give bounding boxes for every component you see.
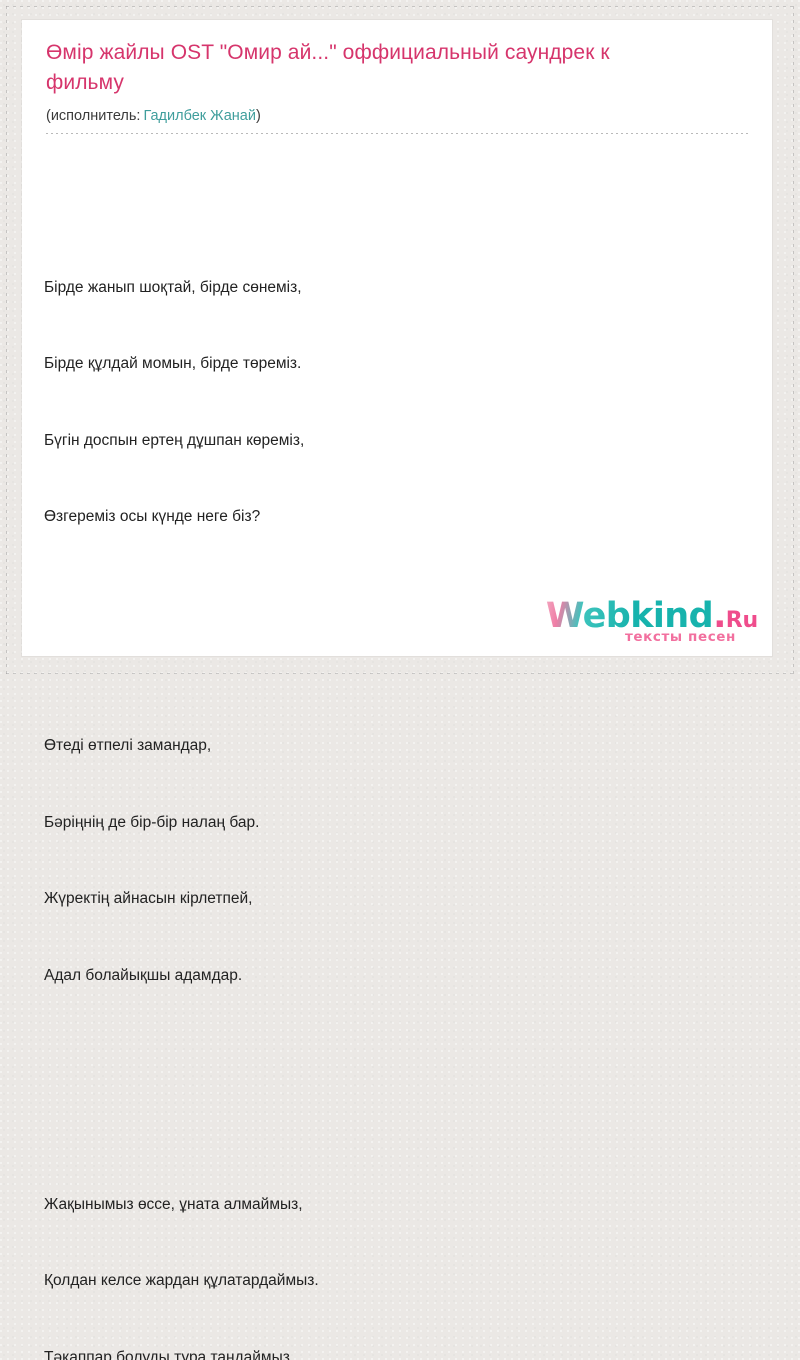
lyrics-content-card: Өмір жайлы OST "Омир ай..." оффициальный… [22,20,772,656]
lyric-line: Өтеді өтпелі замандар, [44,733,748,759]
lyric-line: Қолдан келсе жардан құлатардаймыз. [44,1268,748,1294]
site-logo[interactable]: Webkind.Ru тексты песен [543,598,758,648]
lyrics-stanza: Бірде жанып шоқтай, бірде сөнеміз, Бірде… [44,224,748,581]
performer-label: (исполнитель: [46,108,140,124]
lyric-line: Жүректің айнасын кірлетпей, [44,886,748,912]
lyric-line: Жақынымыз өссе, ұната алмаймыз, [44,1192,748,1218]
lyric-line: Бірде жанып шоқтай, бірде сөнеміз, [44,275,748,301]
lyric-line: Бірде құлдай момын, бірде төреміз. [44,351,748,377]
lyric-line: Адал болайықшы адамдар. [44,963,748,989]
performer-suffix: ) [256,108,261,124]
page-title: Өмір жайлы OST "Омир ай..." оффициальный… [46,38,686,98]
lyric-line: Бәріңнің де бір-бір налаң бар. [44,810,748,836]
lyric-line: Тәкаппар болуды тура таңдаймыз, [44,1345,748,1360]
performer-line: (исполнитель:Гадилбек Жанай) [46,107,748,125]
lyric-line: Бүгін доспын ертең дұшпан көреміз, [44,428,748,454]
logo-web-text: Web [546,596,630,636]
song-header: Өмір жайлы OST "Омир ай..." оффициальный… [22,20,772,134]
lyrics-stanza: Жақынымыз өссе, ұната алмаймыз, Қолдан к… [44,1141,748,1360]
lyrics-stanza: Өтеді өтпелі замандар, Бәріңнің де бір-б… [44,682,748,1039]
lyric-line: Өзгереміз осы күнде неге біз? [44,504,748,530]
performer-link[interactable]: Гадилбек Жанай [143,108,256,124]
lyrics-text: Бірде жанып шоқтай, бірде сөнеміз, Бірде… [22,134,772,1360]
